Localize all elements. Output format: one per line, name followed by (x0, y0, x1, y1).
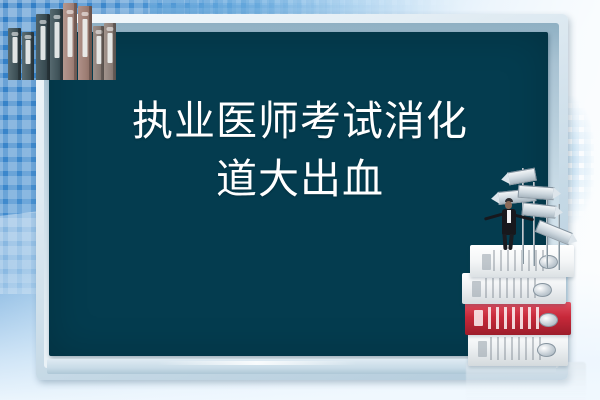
businessman-leg-left (502, 234, 507, 250)
binder (50, 9, 63, 80)
businessman-figure (492, 198, 536, 270)
binder-stack-reflection (466, 362, 586, 400)
binder-stack-layer-red (465, 302, 571, 335)
binder (93, 26, 104, 80)
businessman-shirt (507, 210, 511, 223)
binder (104, 23, 116, 80)
binder (36, 14, 50, 80)
binder-row (8, 2, 116, 80)
banner-image: 执业医师考试消化 道大出血 (0, 0, 600, 400)
businessman-head (505, 201, 512, 209)
binder (78, 6, 92, 80)
binder-stack-layer-bottom (468, 332, 568, 366)
binder (63, 3, 77, 80)
businessman-and-signposts (470, 160, 600, 280)
binder (8, 28, 21, 80)
businessman-torso (502, 209, 516, 235)
page-title-line-1: 执业医师考试消化 (0, 92, 600, 150)
direction-sign-icon (535, 220, 573, 246)
businessman-leg-right (508, 234, 514, 250)
blackboard-tray-highlight (157, 361, 357, 365)
binder (22, 32, 34, 80)
businessman-arm-right (514, 214, 534, 222)
